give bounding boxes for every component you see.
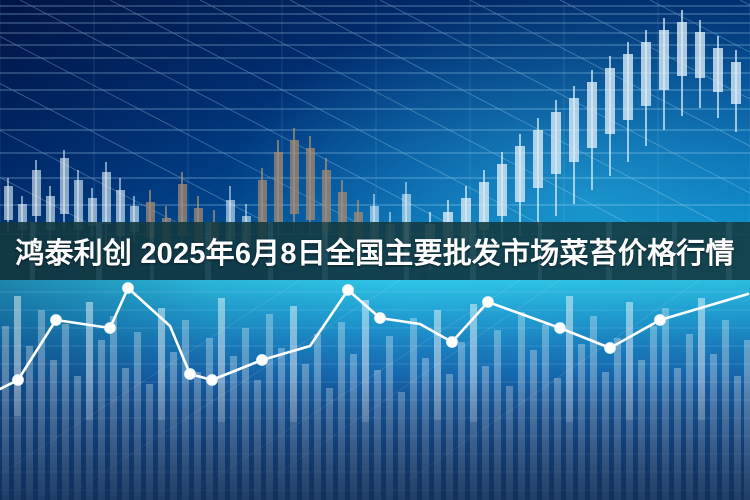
lower-chart-panel — [0, 280, 750, 500]
banner-image: 鸿泰利创 2025年6月8日全国主要批发市场菜苔价格行情 — [0, 0, 750, 500]
banner-title: 鸿泰利创 2025年6月8日全国主要批发市场菜苔价格行情 — [0, 222, 750, 280]
lower-bar-chart — [0, 280, 750, 500]
